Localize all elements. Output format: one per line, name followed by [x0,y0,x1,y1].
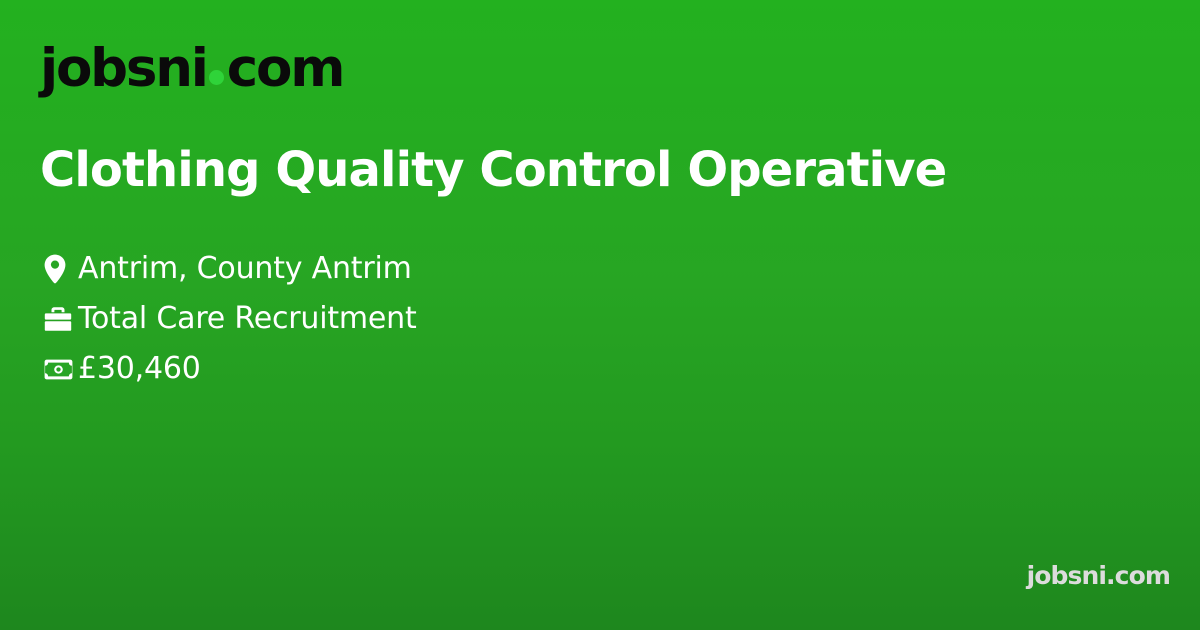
dot-icon [209,70,224,85]
meta-row-employer: Total Care Recruitment [40,294,1040,344]
job-share-card: jobsnicom Clothing Quality Control Opera… [0,0,1200,630]
meta-value-employer: Total Care Recruitment [78,304,417,334]
map-pin-icon [40,254,78,284]
footer-watermark: jobsni.com [1027,563,1170,588]
banknote-icon [40,359,78,380]
site-logo[interactable]: jobsnicom [40,42,343,95]
meta-value-salary: £30,460 [78,354,201,384]
meta-value-location: Antrim, County Antrim [78,254,412,284]
page-title: Clothing Quality Control Operative [40,142,1140,199]
logo-text-prefix: jobsni [40,42,207,95]
meta-row-location: Antrim, County Antrim [40,244,1040,294]
logo-text-suffix: com [227,42,343,95]
briefcase-icon [40,306,78,332]
job-meta-list: Antrim, County Antrim Total Care Recruit… [40,244,1040,394]
meta-row-salary: £30,460 [40,344,1040,394]
